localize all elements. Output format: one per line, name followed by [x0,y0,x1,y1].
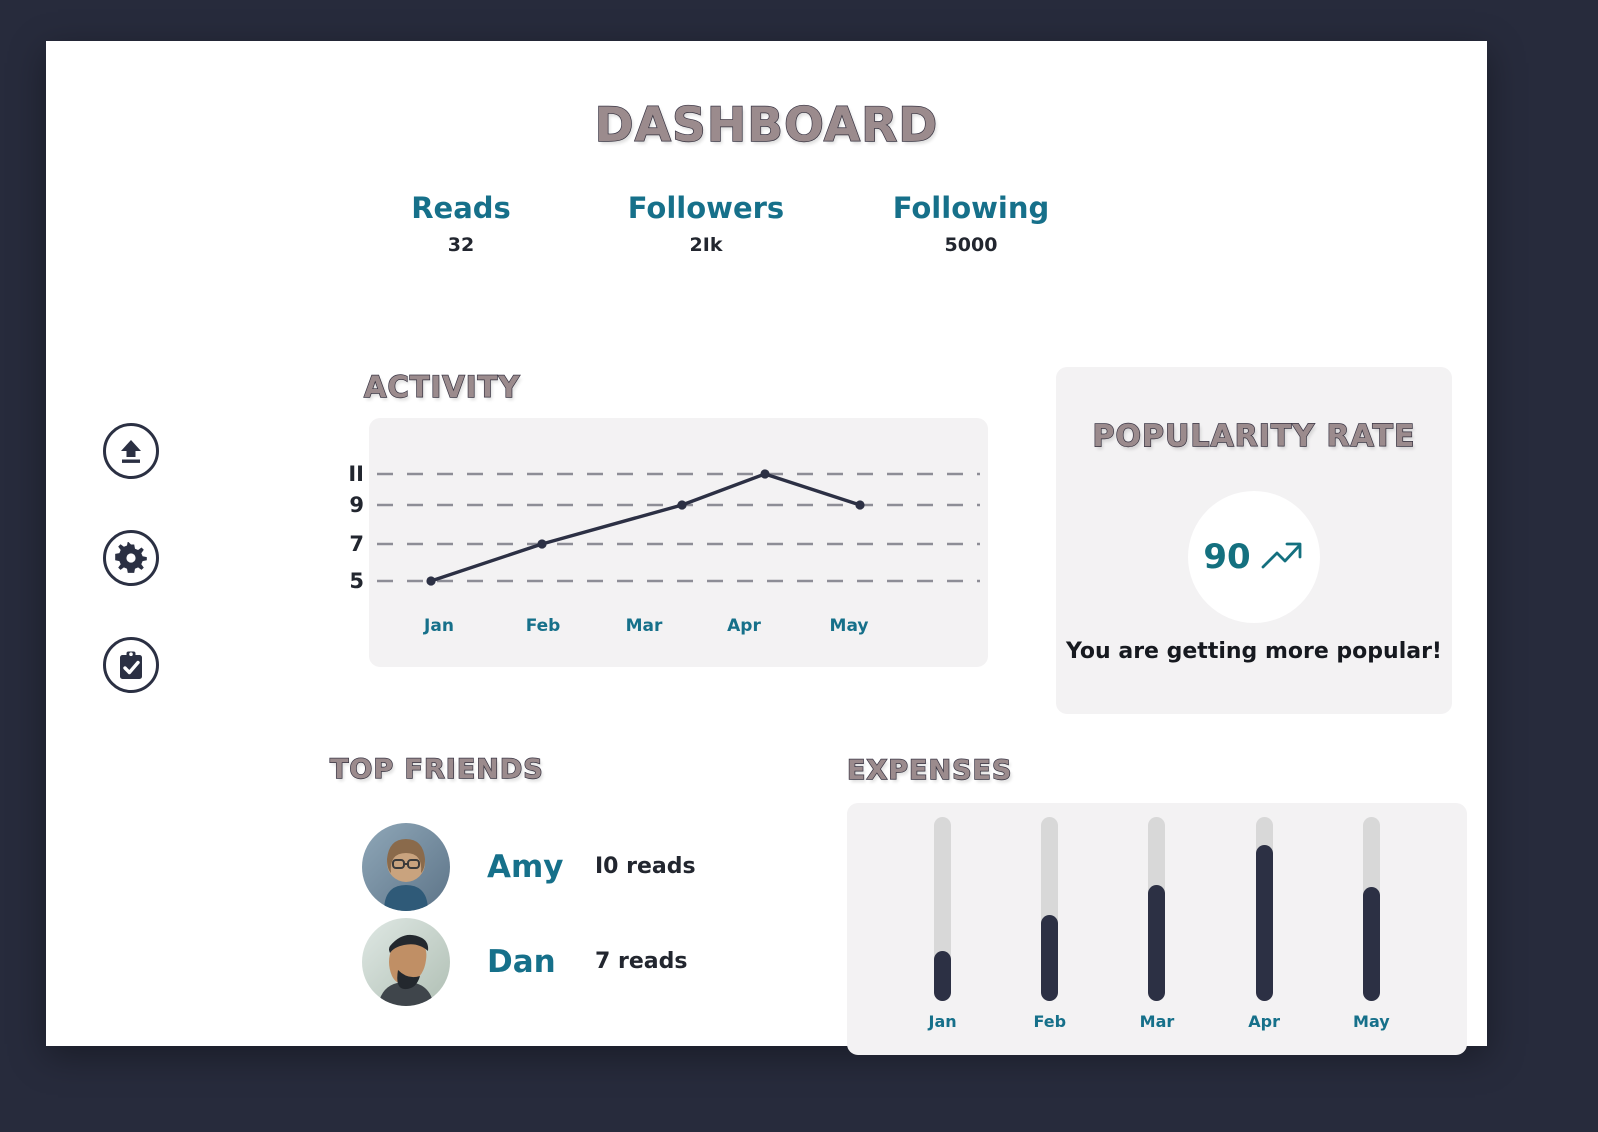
sidebar [103,423,203,744]
bar-track[interactable] [1363,817,1380,1001]
expenses-bar-chart: Jan Feb Mar Apr [847,847,1467,1031]
stat-reads: Reads 32 [346,191,576,256]
stat-following-value: 5000 [836,234,1106,256]
activity-x-axis: Jan Feb Mar Apr May [369,616,988,646]
x-tick-feb: Feb [526,616,561,636]
bar-label: Mar [1140,1012,1175,1031]
list-item[interactable]: Dan 7 reads [362,914,696,1009]
popularity-gauge: 90 [1188,491,1320,623]
y-tick-7: 7 [349,532,364,556]
bar-fill [934,951,951,1001]
popularity-heading: POPULARITY RATE [1056,419,1452,454]
sidebar-item-upload[interactable] [103,423,159,479]
sidebar-item-settings[interactable] [103,530,159,586]
bar-track[interactable] [934,817,951,1001]
gear-icon [115,542,147,574]
activity-line [431,474,860,581]
stat-followers: Followers 2Ik [576,191,836,256]
bar-label: May [1353,1012,1390,1031]
bar-fill [1256,845,1273,1001]
avatar [362,823,450,911]
page-title: DASHBOARD [46,98,1487,153]
bar-track[interactable] [1256,817,1273,1001]
x-tick-may: May [830,616,869,636]
bar-fill [1363,887,1380,1001]
stat-followers-value: 2Ik [576,234,836,256]
stat-reads-value: 32 [346,234,576,256]
stat-following: Following 5000 [836,191,1106,256]
activity-heading: ACTIVITY [364,370,520,404]
stat-followers-label: Followers [576,191,836,225]
top-friends-list: Amy I0 reads [362,819,696,1009]
popularity-message: You are getting more popular! [1056,639,1452,664]
clipboard-check-icon [116,650,146,681]
activity-y-axis: II 9 7 5 [324,418,364,667]
bar-column-apr: Apr [1229,817,1299,1031]
x-tick-mar: Mar [626,616,663,636]
top-friends-heading: TOP FRIENDS [330,754,544,785]
popularity-value: 90 [1203,537,1250,577]
bar-fill [1041,915,1058,1001]
stats-row: Reads 32 Followers 2Ik Following 5000 [346,191,1176,256]
bar-label: Feb [1033,1012,1066,1031]
list-item[interactable]: Amy I0 reads [362,819,696,914]
sidebar-item-tasks[interactable] [103,637,159,693]
dashboard-window: DASHBOARD Reads 32 Followers 2Ik Followi… [46,41,1487,1046]
bar-column-mar: Mar [1122,817,1192,1031]
friend-name: Amy [487,849,595,885]
bar-track[interactable] [1148,817,1165,1001]
bar-column-may: May [1336,817,1406,1031]
trend-up-icon [1259,536,1305,579]
y-tick-5: 5 [349,569,364,593]
stat-following-label: Following [836,191,1106,225]
bar-column-jan: Jan [908,817,978,1031]
gridlines [377,474,980,581]
stat-reads-label: Reads [346,191,576,225]
avatar [362,918,450,1006]
x-tick-apr: Apr [727,616,761,636]
friend-reads: 7 reads [595,949,687,974]
expenses-chart-card: Jan Feb Mar Apr [847,803,1467,1055]
y-tick-9: 9 [349,493,364,517]
y-tick-11: II [348,462,364,486]
popularity-card: POPULARITY RATE 90 You are getting more … [1056,367,1452,714]
upload-icon [116,436,146,466]
friend-reads: I0 reads [595,854,696,879]
x-tick-jan: Jan [424,616,454,636]
bar-label: Jan [929,1012,957,1031]
bar-fill [1148,885,1165,1001]
bar-column-feb: Feb [1015,817,1085,1031]
expenses-heading: EXPENSES [847,755,1012,786]
bar-track[interactable] [1041,817,1058,1001]
friend-name: Dan [487,944,595,980]
bar-label: Apr [1248,1012,1280,1031]
